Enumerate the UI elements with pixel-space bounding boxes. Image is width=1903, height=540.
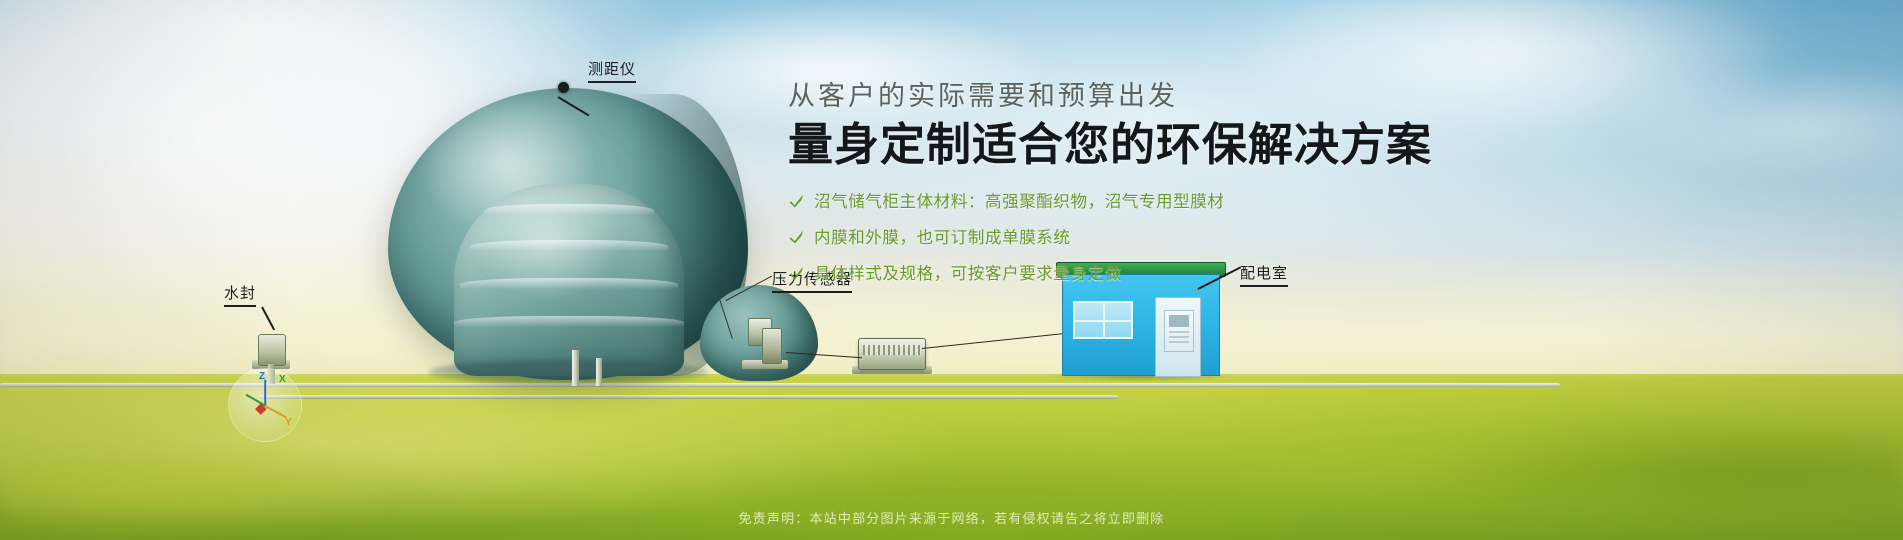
label-rangefinder-text: 测距仪 xyxy=(588,61,636,78)
membrane-ridge xyxy=(484,204,654,220)
feature-list: 沼气储气柜主体材料：高强聚酯织物，沼气专用型膜材 内膜和外膜，也可订制成单膜系统… xyxy=(788,188,1528,284)
feature-item-text: 沼气储气柜主体材料：高强聚酯织物，沼气专用型膜材 xyxy=(814,188,1224,212)
gas-holder-dome xyxy=(388,88,748,380)
feature-item-text: 具体样式及规格，可按客户要求量身定做 xyxy=(814,260,1122,284)
axis-y-line xyxy=(265,405,287,418)
secondary-pipeline xyxy=(258,395,1118,399)
axis-gizmo: Z X Y ◆ xyxy=(228,368,302,442)
membrane-ridge xyxy=(470,240,668,256)
rangefinder-device xyxy=(558,82,569,93)
feature-item-text: 内膜和外膜，也可订制成单膜系统 xyxy=(814,224,1071,248)
disclaimer-text: 免责声明：本站中部分图片来源于网络，若有侵权请告之将立即删除 xyxy=(0,508,1903,527)
vent-pipe xyxy=(596,358,602,386)
hero-banner: 测距仪 水封 压力传感器 xyxy=(0,0,1903,540)
pressure-sensor-column xyxy=(762,328,782,364)
axis-origin-marker: ◆ xyxy=(255,399,267,417)
axis-z-label: Z xyxy=(259,371,265,382)
house-window xyxy=(1073,301,1133,339)
label-water-seal-text: 水封 xyxy=(224,285,256,302)
blower-fins xyxy=(863,345,921,355)
feature-item: 沼气储气柜主体材料：高强聚酯织物，沼气专用型膜材 xyxy=(788,188,1528,212)
dome-base-shadow xyxy=(428,360,708,384)
panel-screen xyxy=(1169,315,1189,327)
feature-item: 具体样式及规格，可按客户要求量身定做 xyxy=(788,260,1528,284)
dome-inner-membrane xyxy=(454,184,684,376)
membrane-ridge xyxy=(454,316,684,332)
label-underline xyxy=(588,81,636,83)
check-icon xyxy=(788,264,805,281)
label-water-seal: 水封 xyxy=(224,282,256,307)
axis-y-label: Y xyxy=(285,417,292,428)
vent-pipe xyxy=(572,350,579,386)
water-seal-unit xyxy=(258,334,286,366)
panel-buttons xyxy=(1169,331,1189,345)
label-underline xyxy=(224,305,256,307)
house-door xyxy=(1155,297,1201,377)
axis-x-label: X xyxy=(279,374,286,385)
blower-unit xyxy=(858,338,926,370)
control-panel xyxy=(1164,310,1194,352)
hero-subheadline: 从客户的实际需要和预算出发 xyxy=(788,82,1528,112)
hero-headline: 量身定制适合您的环保解决方案 xyxy=(788,119,1528,171)
label-rangefinder: 测距仪 xyxy=(588,58,636,83)
hero-text-block: 从客户的实际需要和预算出发 量身定制适合您的环保解决方案 沼气储气柜主体材料：高… xyxy=(788,82,1528,296)
feature-item: 内膜和外膜，也可订制成单膜系统 xyxy=(788,224,1528,248)
membrane-ridge xyxy=(460,278,678,294)
check-icon xyxy=(788,192,805,209)
check-icon xyxy=(788,228,805,245)
